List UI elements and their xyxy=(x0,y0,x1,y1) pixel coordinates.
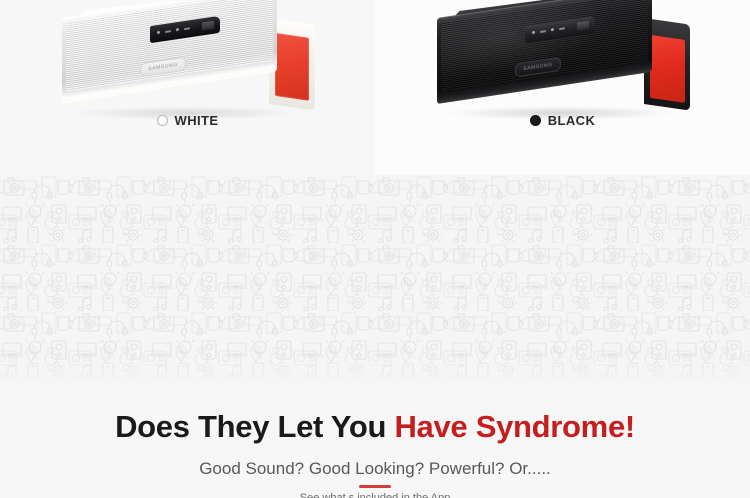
control-dash-icon xyxy=(559,27,565,30)
control-dash-icon xyxy=(184,27,190,30)
color-choice-black[interactable]: BLACK xyxy=(375,113,750,128)
speaker-grille xyxy=(66,0,273,91)
control-dash-icon xyxy=(540,30,546,33)
speaker-grille xyxy=(441,0,648,91)
speaker-red-panel xyxy=(275,33,309,101)
headline-text-red: Have Syndrome! xyxy=(394,409,634,444)
product-color-section: SAMSUNG WHITE xyxy=(0,0,750,175)
speaker-front-face xyxy=(62,0,277,104)
black-speaker-image: SAMSUNG xyxy=(375,10,750,110)
page-headline: Does They Let You Have Syndrome! xyxy=(0,409,750,445)
control-display-icon xyxy=(577,21,589,31)
color-label-black: BLACK xyxy=(548,113,596,128)
speaker-body: SAMSUNG xyxy=(437,18,687,104)
white-speaker-image: SAMSUNG xyxy=(0,10,375,110)
control-dash-icon xyxy=(165,30,171,33)
page-subheadline: Good Sound? Good Looking? Powerful? Or..… xyxy=(0,459,750,479)
feature-section: Does They Let You Have Syndrome! Good So… xyxy=(0,175,750,498)
control-buttons xyxy=(532,26,565,34)
radio-unchecked-icon[interactable] xyxy=(157,115,168,126)
color-label-white: WHITE xyxy=(175,113,219,128)
headline-text-black: Does They Let You xyxy=(115,409,394,444)
app-note-text: See what s included in the App xyxy=(0,492,750,498)
product-option-white[interactable]: SAMSUNG WHITE xyxy=(0,0,375,175)
doodle-pattern-background xyxy=(0,175,750,380)
control-dot-icon xyxy=(551,28,554,31)
product-option-black[interactable]: SAMSUNG BLACK xyxy=(375,0,750,175)
speaker-red-panel xyxy=(650,35,685,103)
headline-divider xyxy=(359,485,391,488)
color-choice-white[interactable]: WHITE xyxy=(0,113,375,128)
control-dot-icon xyxy=(532,31,535,34)
control-dot-icon xyxy=(176,28,179,31)
control-buttons xyxy=(157,26,190,34)
promo-page: SAMSUNG WHITE xyxy=(0,0,750,498)
speaker-body: SAMSUNG xyxy=(62,18,312,104)
radio-checked-icon[interactable] xyxy=(530,115,541,126)
speaker-front-face xyxy=(437,0,652,104)
control-display-icon xyxy=(202,21,214,31)
control-dot-icon xyxy=(157,31,160,34)
